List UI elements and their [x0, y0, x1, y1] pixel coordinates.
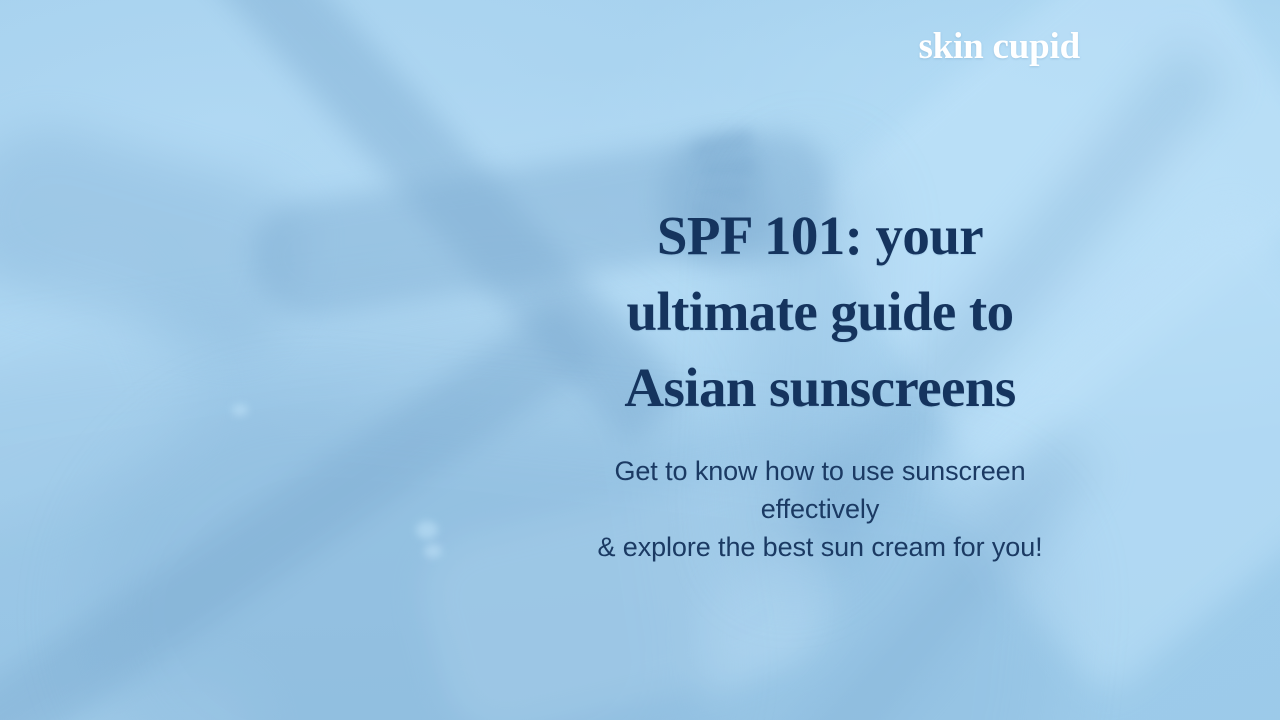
- page-title: SPF 101: your ultimate guide to Asian su…: [560, 198, 1080, 426]
- subtitle-line-1: Get to know how to use sunscreen effecti…: [560, 452, 1080, 528]
- text-block: SPF 101: your ultimate guide to Asian su…: [560, 198, 1080, 566]
- brand-logo[interactable]: skin cupid: [918, 28, 1080, 65]
- headline-line-3: Asian sunscreens: [624, 357, 1015, 418]
- banner-image: skin cupid SPF 101: your ultimate guide …: [0, 0, 1280, 720]
- headline-line-2: ultimate guide to: [627, 281, 1014, 342]
- banner-content: skin cupid SPF 101: your ultimate guide …: [0, 0, 1280, 720]
- page-subtitle: Get to know how to use sunscreen effecti…: [560, 452, 1080, 566]
- subtitle-line-2: & explore the best sun cream for you!: [560, 528, 1080, 566]
- headline-line-1: SPF 101: your: [657, 205, 983, 266]
